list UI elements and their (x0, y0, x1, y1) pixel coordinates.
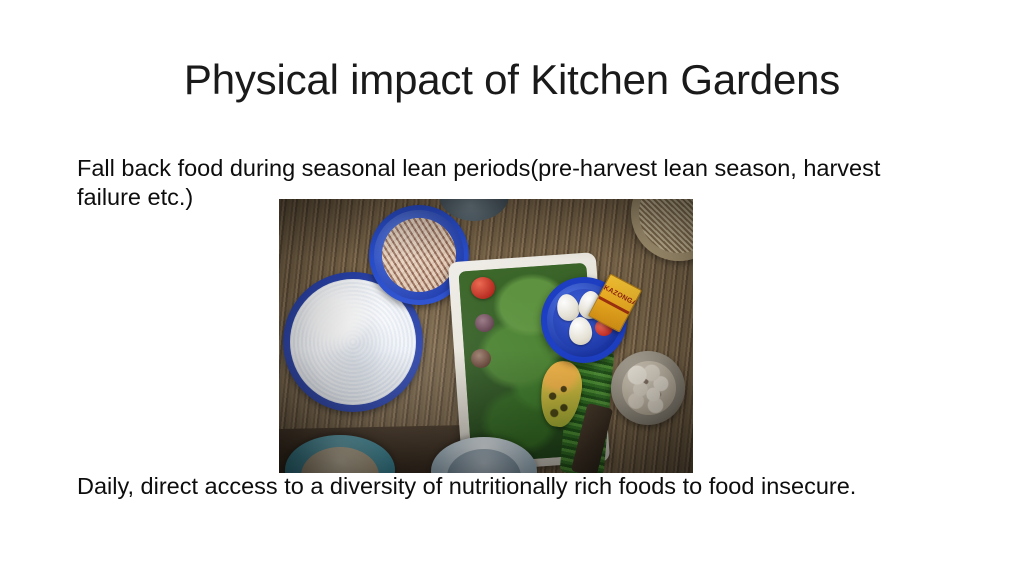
photo-lighting (279, 199, 693, 473)
page-title: Physical impact of Kitchen Gardens (0, 54, 1024, 106)
food-photograph: KAZONGA (279, 199, 693, 473)
slide-canvas: Physical impact of Kitchen Gardens Fall … (0, 0, 1024, 576)
body-text-bottom: Daily, direct access to a diversity of n… (77, 472, 957, 501)
